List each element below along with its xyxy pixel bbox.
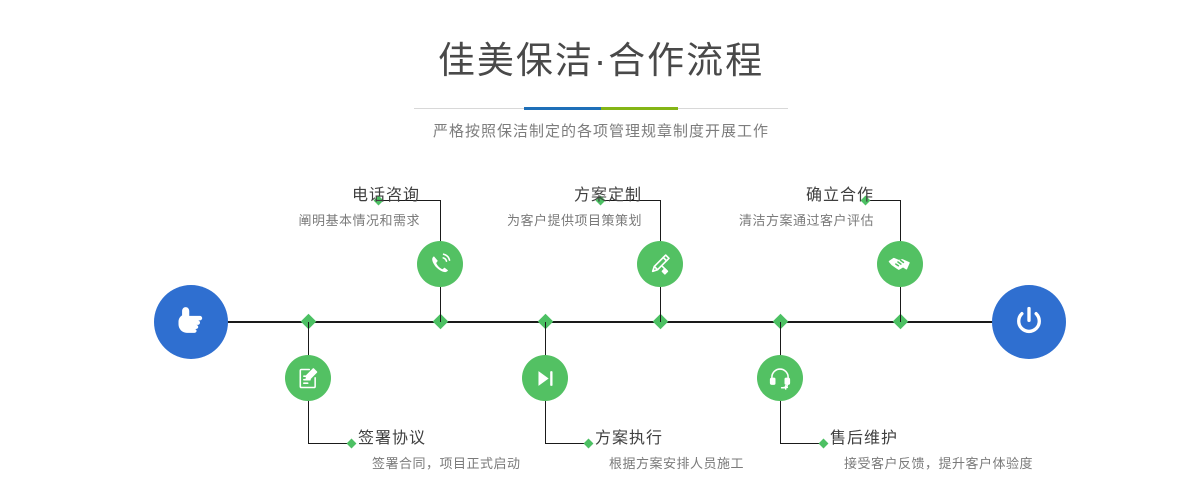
step-label-1: 电话咨询 阐明基本情况和需求 xyxy=(298,188,420,227)
phone-call-icon xyxy=(427,251,453,277)
power-icon xyxy=(1010,303,1048,341)
play-execute-icon xyxy=(533,366,558,391)
step-icon-6[interactable] xyxy=(757,355,803,401)
header: 佳美保洁·合作流程 严格按照保洁制定的各项管理规章制度开展工作 xyxy=(0,0,1202,139)
divider-green-segment xyxy=(601,107,678,110)
step-desc-1: 阐明基本情况和需求 xyxy=(298,214,420,227)
label-dot-step-4 xyxy=(584,439,594,449)
step-label-5: 确立合作 清洁方案通过客户评估 xyxy=(739,188,874,227)
step-label-3: 方案定制 为客户提供项目策策划 xyxy=(507,188,642,227)
step-label-6: 售后维护 接受客户反馈，提升客户体验度 xyxy=(830,431,1033,470)
timeline-end-node[interactable] xyxy=(992,285,1066,359)
pencil-design-icon xyxy=(647,251,673,277)
page-subtitle: 严格按照保洁制定的各项管理规章制度开展工作 xyxy=(0,124,1202,139)
step-name-3: 方案定制 xyxy=(507,188,642,204)
step-desc-4: 根据方案安排人员施工 xyxy=(609,457,744,470)
step-desc-6: 接受客户反馈，提升客户体验度 xyxy=(844,457,1033,470)
flow-diagram: 佳美保洁·合作流程 严格按照保洁制定的各项管理规章制度开展工作 xyxy=(0,0,1202,502)
label-dot-step-2 xyxy=(347,439,357,449)
pointing-hand-icon xyxy=(171,302,211,342)
step-name-5: 确立合作 xyxy=(739,188,874,204)
page-title: 佳美保洁·合作流程 xyxy=(0,42,1202,79)
handshake-icon xyxy=(887,251,914,278)
label-dot-step-6 xyxy=(819,439,829,449)
step-desc-3: 为客户提供项目策策划 xyxy=(507,214,642,227)
step-name-1: 电话咨询 xyxy=(298,188,420,204)
step-name-6: 售后维护 xyxy=(830,431,1033,447)
step-icon-1[interactable] xyxy=(417,241,463,287)
title-divider xyxy=(414,107,788,110)
step-icon-3[interactable] xyxy=(637,241,683,287)
step-label-4: 方案执行 根据方案安排人员施工 xyxy=(595,431,744,470)
step-name-2: 签署协议 xyxy=(358,431,521,447)
step-icon-4[interactable] xyxy=(522,355,568,401)
customer-service-add-icon xyxy=(767,365,793,391)
divider-blue-segment xyxy=(524,107,601,110)
step-name-4: 方案执行 xyxy=(595,431,744,447)
step-label-2: 签署协议 签署合同，项目正式启动 xyxy=(358,431,521,470)
step-desc-2: 签署合同，项目正式启动 xyxy=(372,457,521,470)
timeline-start-node[interactable] xyxy=(154,285,228,359)
document-edit-icon xyxy=(296,366,321,391)
step-desc-5: 清洁方案通过客户评估 xyxy=(739,214,874,227)
step-icon-2[interactable] xyxy=(285,355,331,401)
step-icon-5[interactable] xyxy=(877,241,923,287)
